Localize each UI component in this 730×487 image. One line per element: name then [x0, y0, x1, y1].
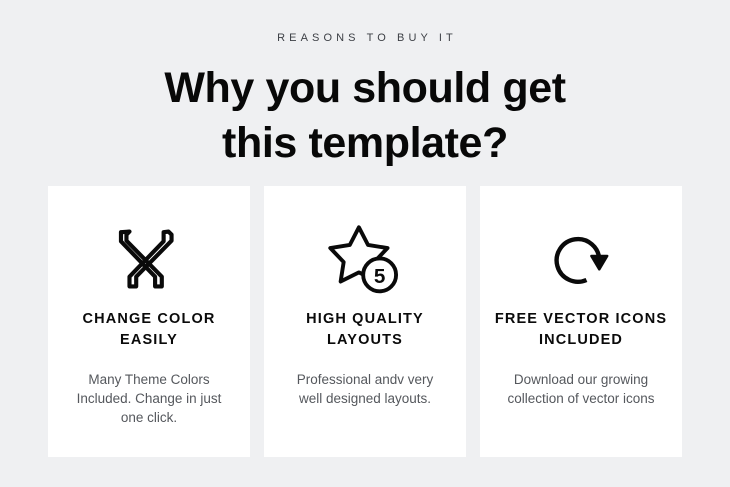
headline-line-2: this template?	[222, 119, 508, 167]
feature-card-title: FREE VECTOR ICONS INCLUDED	[494, 302, 668, 351]
pencil-brush-icon	[110, 216, 188, 302]
headline-line-1: Why you should get	[164, 64, 565, 112]
star-rating-five-icon: 5	[326, 216, 404, 302]
feature-card-list: CHANGE COLOR EASILY Many Theme Colors In…	[48, 186, 682, 457]
feature-card-change-color[interactable]: CHANGE COLOR EASILY Many Theme Colors In…	[48, 186, 250, 457]
feature-card-high-quality[interactable]: 5 HIGH QUALITY LAYOUTS Professional andv…	[264, 186, 466, 457]
feature-card-free-icons[interactable]: FREE VECTOR ICONS INCLUDED Download our …	[480, 186, 682, 457]
feature-card-body: Many Theme Colors Included. Change in ju…	[69, 351, 229, 427]
svg-text:5: 5	[374, 265, 386, 288]
section-header: REASONS TO BUY IT Why you should get thi…	[0, 0, 730, 171]
feature-section: REASONS TO BUY IT Why you should get thi…	[0, 0, 730, 487]
feature-card-title: HIGH QUALITY LAYOUTS	[278, 302, 452, 351]
page-title: Why you should get this template?	[0, 44, 730, 171]
feature-card-body: Download our growing collection of vecto…	[501, 351, 661, 408]
refresh-circle-arrow-icon	[542, 216, 620, 302]
feature-card-title: CHANGE COLOR EASILY	[62, 302, 236, 351]
feature-card-body: Professional andv very well designed lay…	[285, 351, 445, 408]
section-eyebrow: REASONS TO BUY IT	[0, 33, 730, 44]
